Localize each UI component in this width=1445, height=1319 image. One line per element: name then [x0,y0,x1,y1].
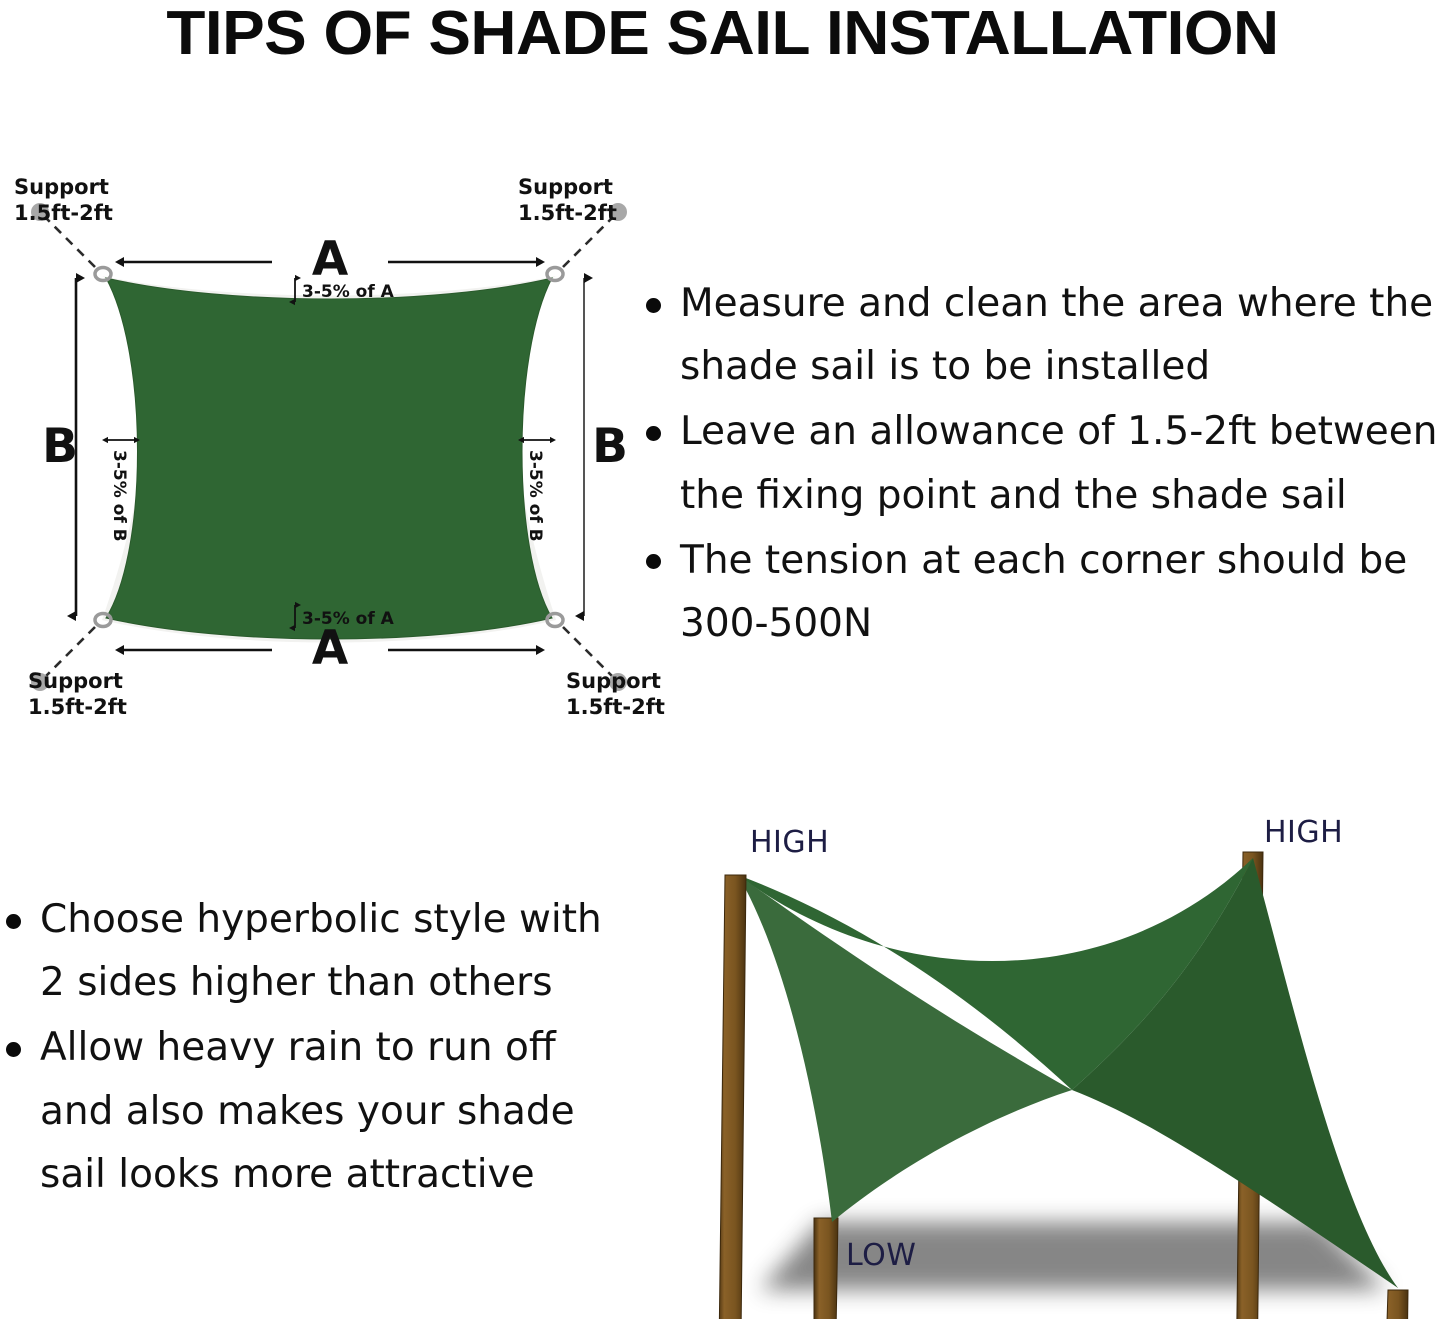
dimension-label-b-left: B [42,419,78,474]
svg-text:1.5ft-2ft: 1.5ft-2ft [566,695,665,719]
tip-item: Leave an allowance of 1.5-2ft between th… [640,400,1445,526]
dimension-b-right: B [584,278,628,616]
label-high-right: HIGH [1264,815,1343,850]
curve-callout-right: 3-5% of B [524,440,550,542]
sail-lobe-front [738,875,1072,1222]
dimension-a-top: A [124,232,536,287]
post-low-back-left [814,1218,838,1319]
tip-item: Measure and clean the area where the sha… [640,272,1445,398]
rectangular-sail-diagram: Support 1.5ft-2ft Support 1.5ft-2ft Supp… [0,150,660,730]
support-label-bottom-left: Support 1.5ft-2ft [28,669,127,719]
svg-text:Support: Support [566,669,661,693]
installation-tips-right-list: Measure and clean the area where the sha… [640,272,1445,657]
corner-ring-top-right [547,268,563,281]
support-label-top-left: Support 1.5ft-2ft [14,175,113,225]
page-title: TIPS OF SHADE SAIL INSTALLATION [0,0,1445,66]
label-high-left: HIGH [750,825,829,860]
svg-text:Support: Support [518,175,613,199]
post-low-front-right [1383,1290,1408,1319]
curve-callout-top: 3-5% of A [295,278,395,302]
installation-tips-bottom-list: Choose hyperbolic style with 2 sides hig… [0,888,626,1208]
poster-root: TIPS OF SHADE SAIL INSTALLATION [0,0,1445,1319]
svg-text:1.5ft-2ft: 1.5ft-2ft [28,695,127,719]
hyperbolic-sail-diagram: HIGH HIGH LOW LOW [680,790,1445,1319]
support-label-bottom-right: Support 1.5ft-2ft [566,669,665,719]
svg-text:Support: Support [14,175,109,199]
tip-item: The tension at each corner should be 300… [640,529,1445,655]
tip-item: Choose hyperbolic style with 2 sides hig… [0,888,626,1014]
support-label-top-right: Support 1.5ft-2ft [518,175,617,225]
curve-label-right: 3-5% of B [525,450,545,542]
curve-label-bottom: 3-5% of A [302,609,395,629]
sail-body [106,278,552,639]
dimension-label-b-right: B [592,419,628,474]
curve-label-left: 3-5% of B [109,450,129,542]
post-high-front-left [718,875,746,1319]
svg-text:Support: Support [28,669,123,693]
dimension-b-left: B [42,278,78,616]
dimension-label-a-bottom: A [312,621,349,676]
svg-text:1.5ft-2ft: 1.5ft-2ft [518,201,617,225]
label-low-left: LOW [846,1238,916,1273]
corner-ring-top-left [95,268,111,281]
dimension-label-a-top: A [312,232,349,287]
tip-item: Allow heavy rain to run off and also mak… [0,1016,626,1206]
curve-callout-bottom: 3-5% of A [295,605,395,629]
curve-label-top: 3-5% of A [302,282,395,302]
svg-text:1.5ft-2ft: 1.5ft-2ft [14,201,113,225]
